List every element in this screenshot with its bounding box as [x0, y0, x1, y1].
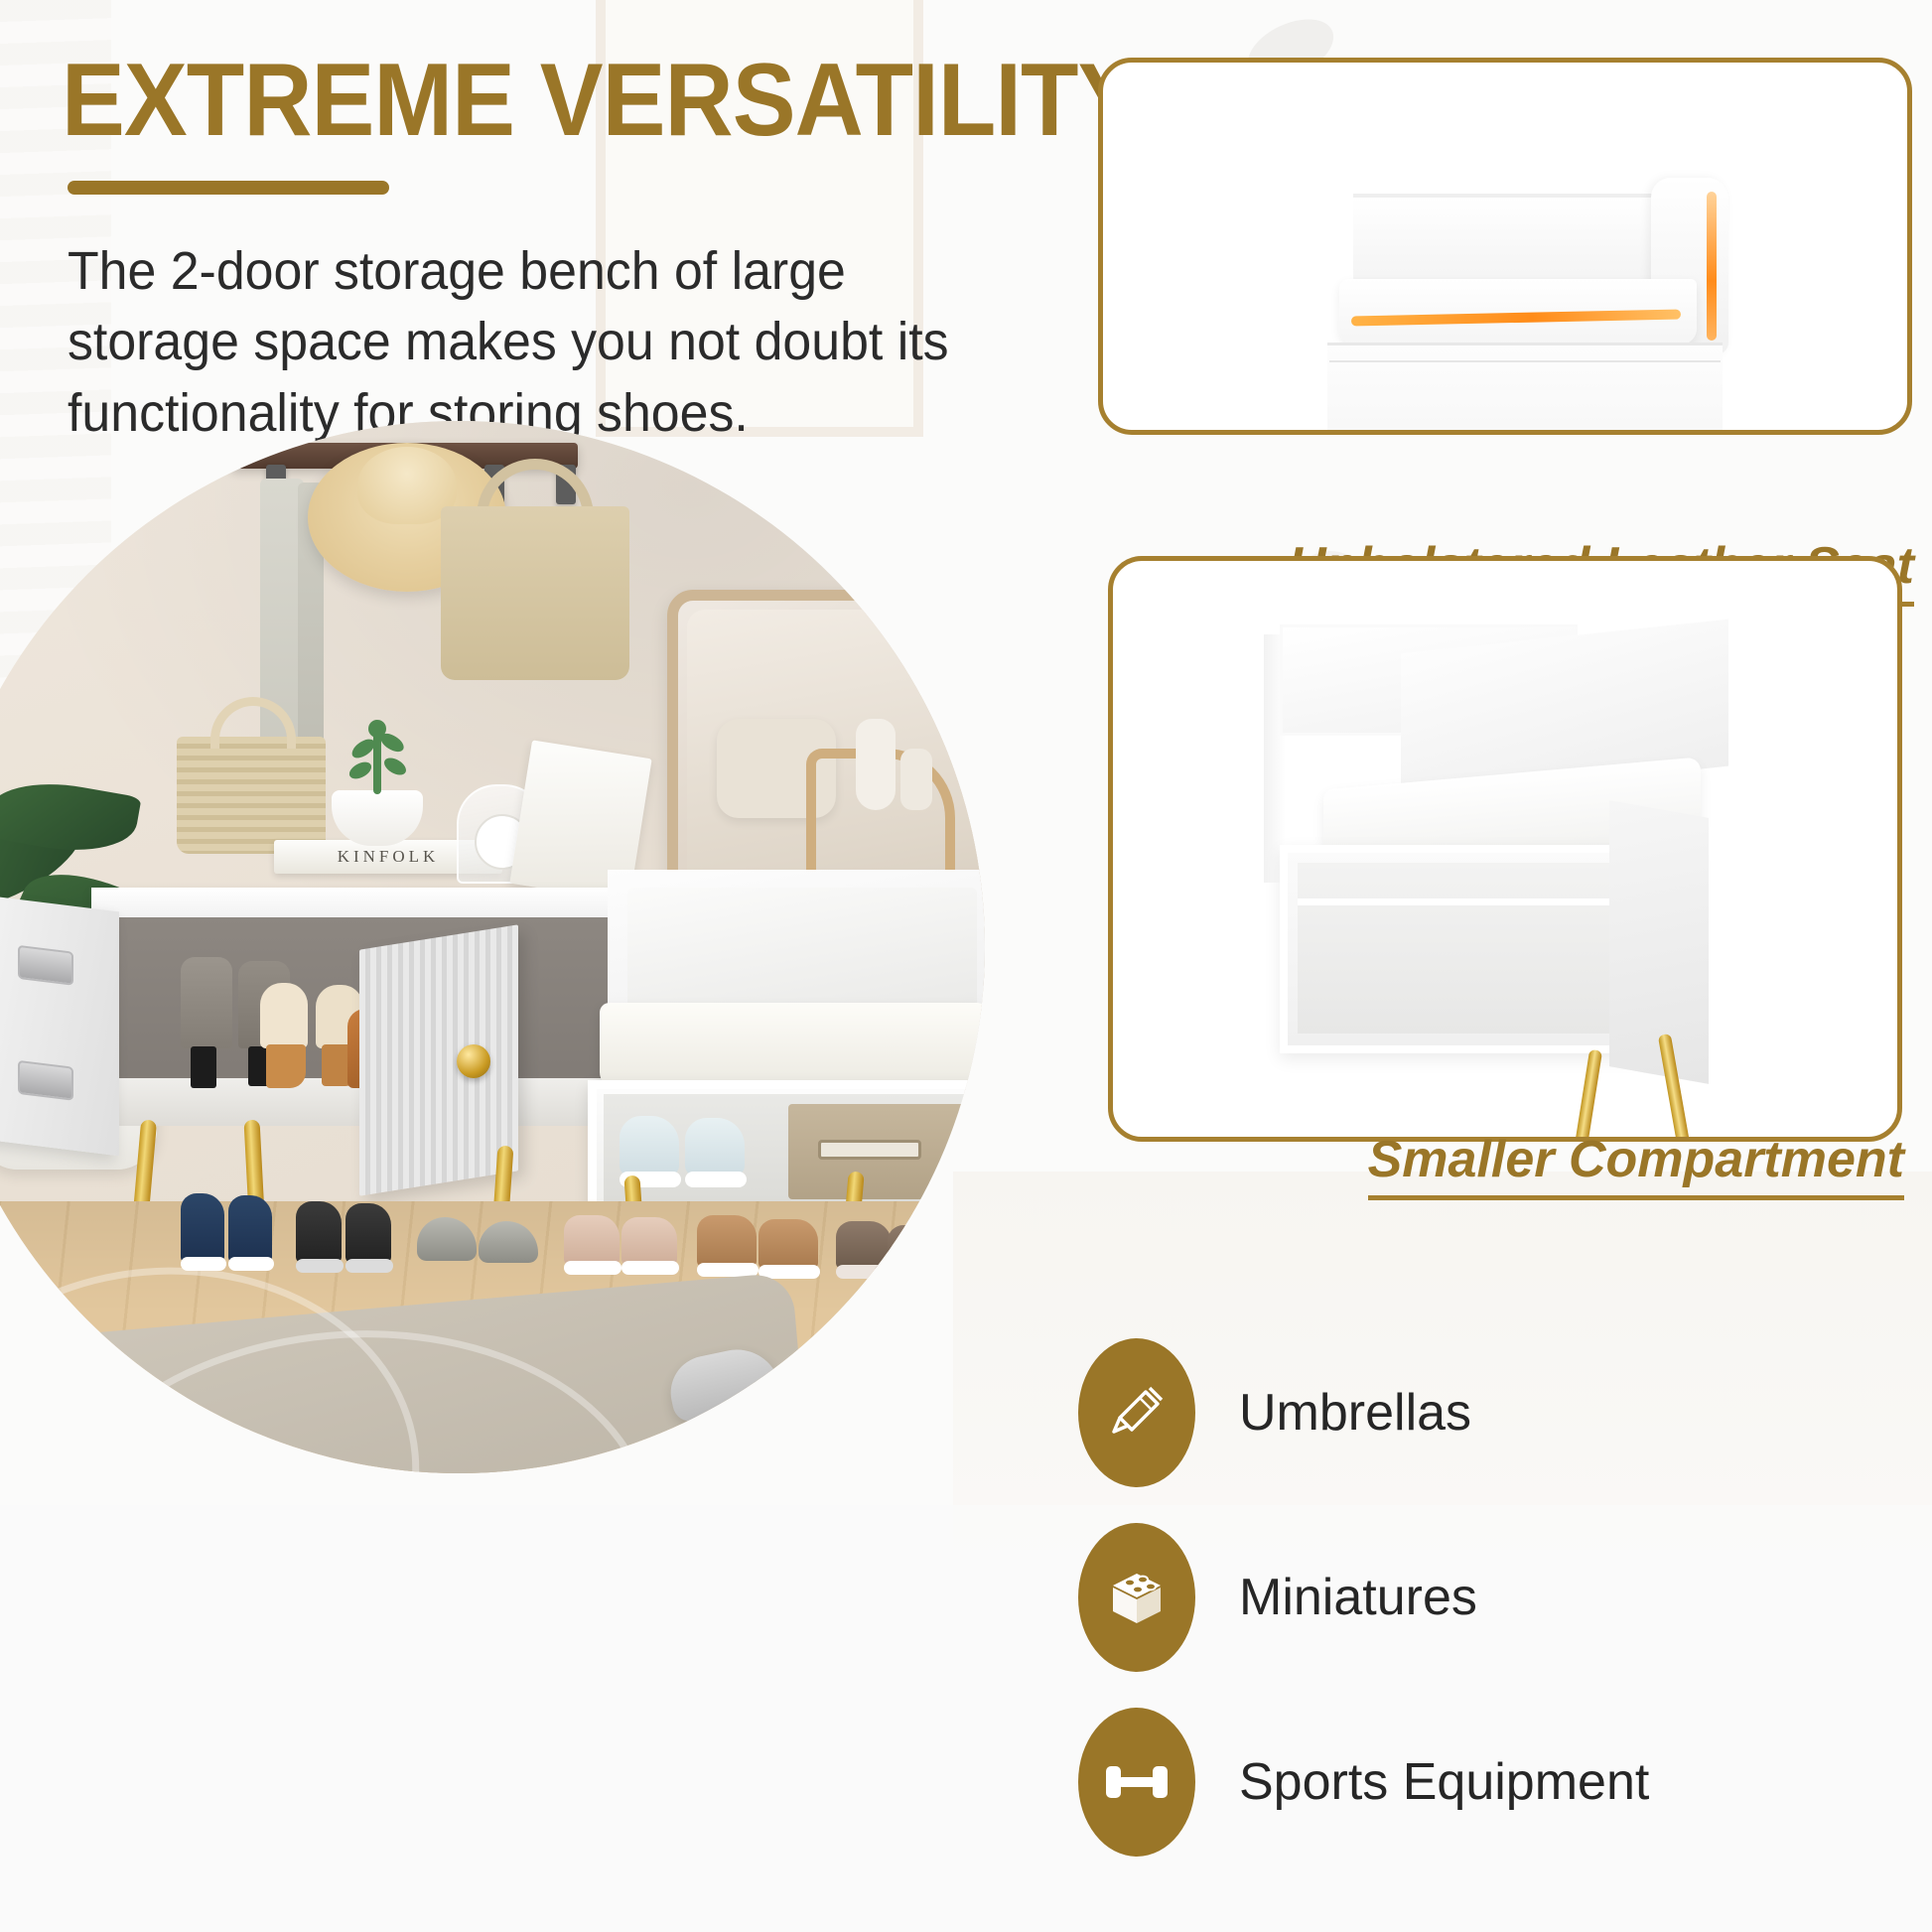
p2-gold-leg-left	[1570, 1049, 1602, 1142]
scene-woven-tote-bag	[441, 506, 629, 680]
feature-item-umbrellas: Umbrellas	[1078, 1320, 1932, 1505]
scene-reflected-vase-large	[856, 719, 896, 810]
feature-label-sports-equipment: Sports Equipment	[1239, 1752, 1649, 1812]
p1-cabinet-seam-top	[1329, 360, 1721, 362]
page-title: EXTREME VERSATILITY	[62, 48, 1140, 153]
scene-succulent-plant	[344, 719, 411, 798]
cabinet-door-right-fluted[interactable]	[359, 924, 518, 1195]
callout-label-smaller-compartment: Smaller Compartment	[1368, 1130, 1904, 1200]
title-underline-rule	[68, 181, 389, 195]
p2-compartment-interior	[1298, 863, 1615, 1034]
umbrella-icon	[1078, 1338, 1195, 1487]
cabinet-door-gold-knob[interactable]	[457, 1044, 490, 1078]
feature-list: Umbrellas Miniatures	[1078, 1320, 1932, 1874]
product-photo-smaller-compartment	[1108, 556, 1902, 1142]
feature-item-sports-equipment: Sports Equipment	[1078, 1690, 1932, 1874]
floor-shoe-row	[181, 1175, 935, 1295]
product-photo-upholstered-seat	[1098, 58, 1912, 435]
p1-cabinet-body	[1327, 343, 1723, 435]
scene-basket-bag-on-bench	[177, 737, 326, 854]
dumbbell-icon	[1078, 1708, 1195, 1857]
scene-reflected-vase-small	[900, 749, 932, 810]
p2-compartment-divider-shelf	[1298, 898, 1615, 905]
cabinet-door-left-open[interactable]	[0, 896, 119, 1157]
scene-book-title: KINFOLK	[338, 847, 440, 867]
building-block-icon	[1078, 1523, 1195, 1672]
bench-seat-cushion	[600, 1003, 985, 1088]
hero-lifestyle-photo: KINFOLK	[0, 421, 985, 1473]
bench-backrest-pad	[627, 888, 977, 1017]
description-paragraph: The 2-door storage bench of large storag…	[68, 236, 1031, 449]
feature-label-miniatures: Miniatures	[1239, 1568, 1477, 1627]
p1-armrest-orange-accent	[1707, 192, 1717, 341]
feature-item-miniatures: Miniatures	[1078, 1505, 1932, 1690]
feature-label-umbrellas: Umbrellas	[1239, 1383, 1471, 1443]
shelf-storage-box-handle[interactable]	[818, 1140, 921, 1160]
